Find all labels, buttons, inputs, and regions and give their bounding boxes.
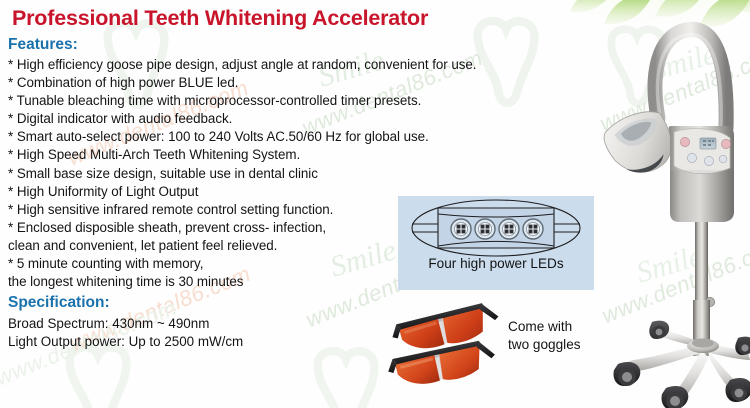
led-diagram-caption: Four high power LEDs [398,256,594,271]
specification-heading: Specification: [8,294,110,312]
goggles-caption-line2: two goggles [508,336,581,354]
goggles-caption: Come with two goggles [508,318,581,353]
specification-list: Broad Spectrum: 430nm ~ 490nm Light Outp… [8,315,243,352]
product-photo-whitening-accelerator [576,0,750,408]
feature-line: * Digital indicator with audio feedback. [8,110,538,128]
feature-line: * Tunable bleaching time with microproce… [8,92,538,110]
product-info-graphic: Smile Smile Smile Smile www.dental86.com… [0,0,750,408]
led-diagram-panel: Four high power LEDs [398,196,594,290]
feature-line: * Smart auto-select power: 100 to 240 Vo… [8,128,538,146]
goggles-image [388,294,508,394]
features-heading: Features: [8,36,78,54]
feature-line: * High efficiency goose pipe design, adj… [8,56,538,74]
feature-line: * Small base size design, suitable use i… [8,165,538,183]
spec-line: Broad Spectrum: 430nm ~ 490nm [8,315,243,333]
goggles-caption-line1: Come with [508,318,581,336]
feature-line: * Combination of high power BLUE led. [8,74,538,92]
feature-line: * High Speed Multi-Arch Teeth Whitening … [8,146,538,164]
spec-line: Light Output power: Up to 2500 mW/cm [8,333,243,351]
tooth-logo-watermark [298,344,394,408]
page-title: Professional Teeth Whitening Accelerator [12,6,428,31]
